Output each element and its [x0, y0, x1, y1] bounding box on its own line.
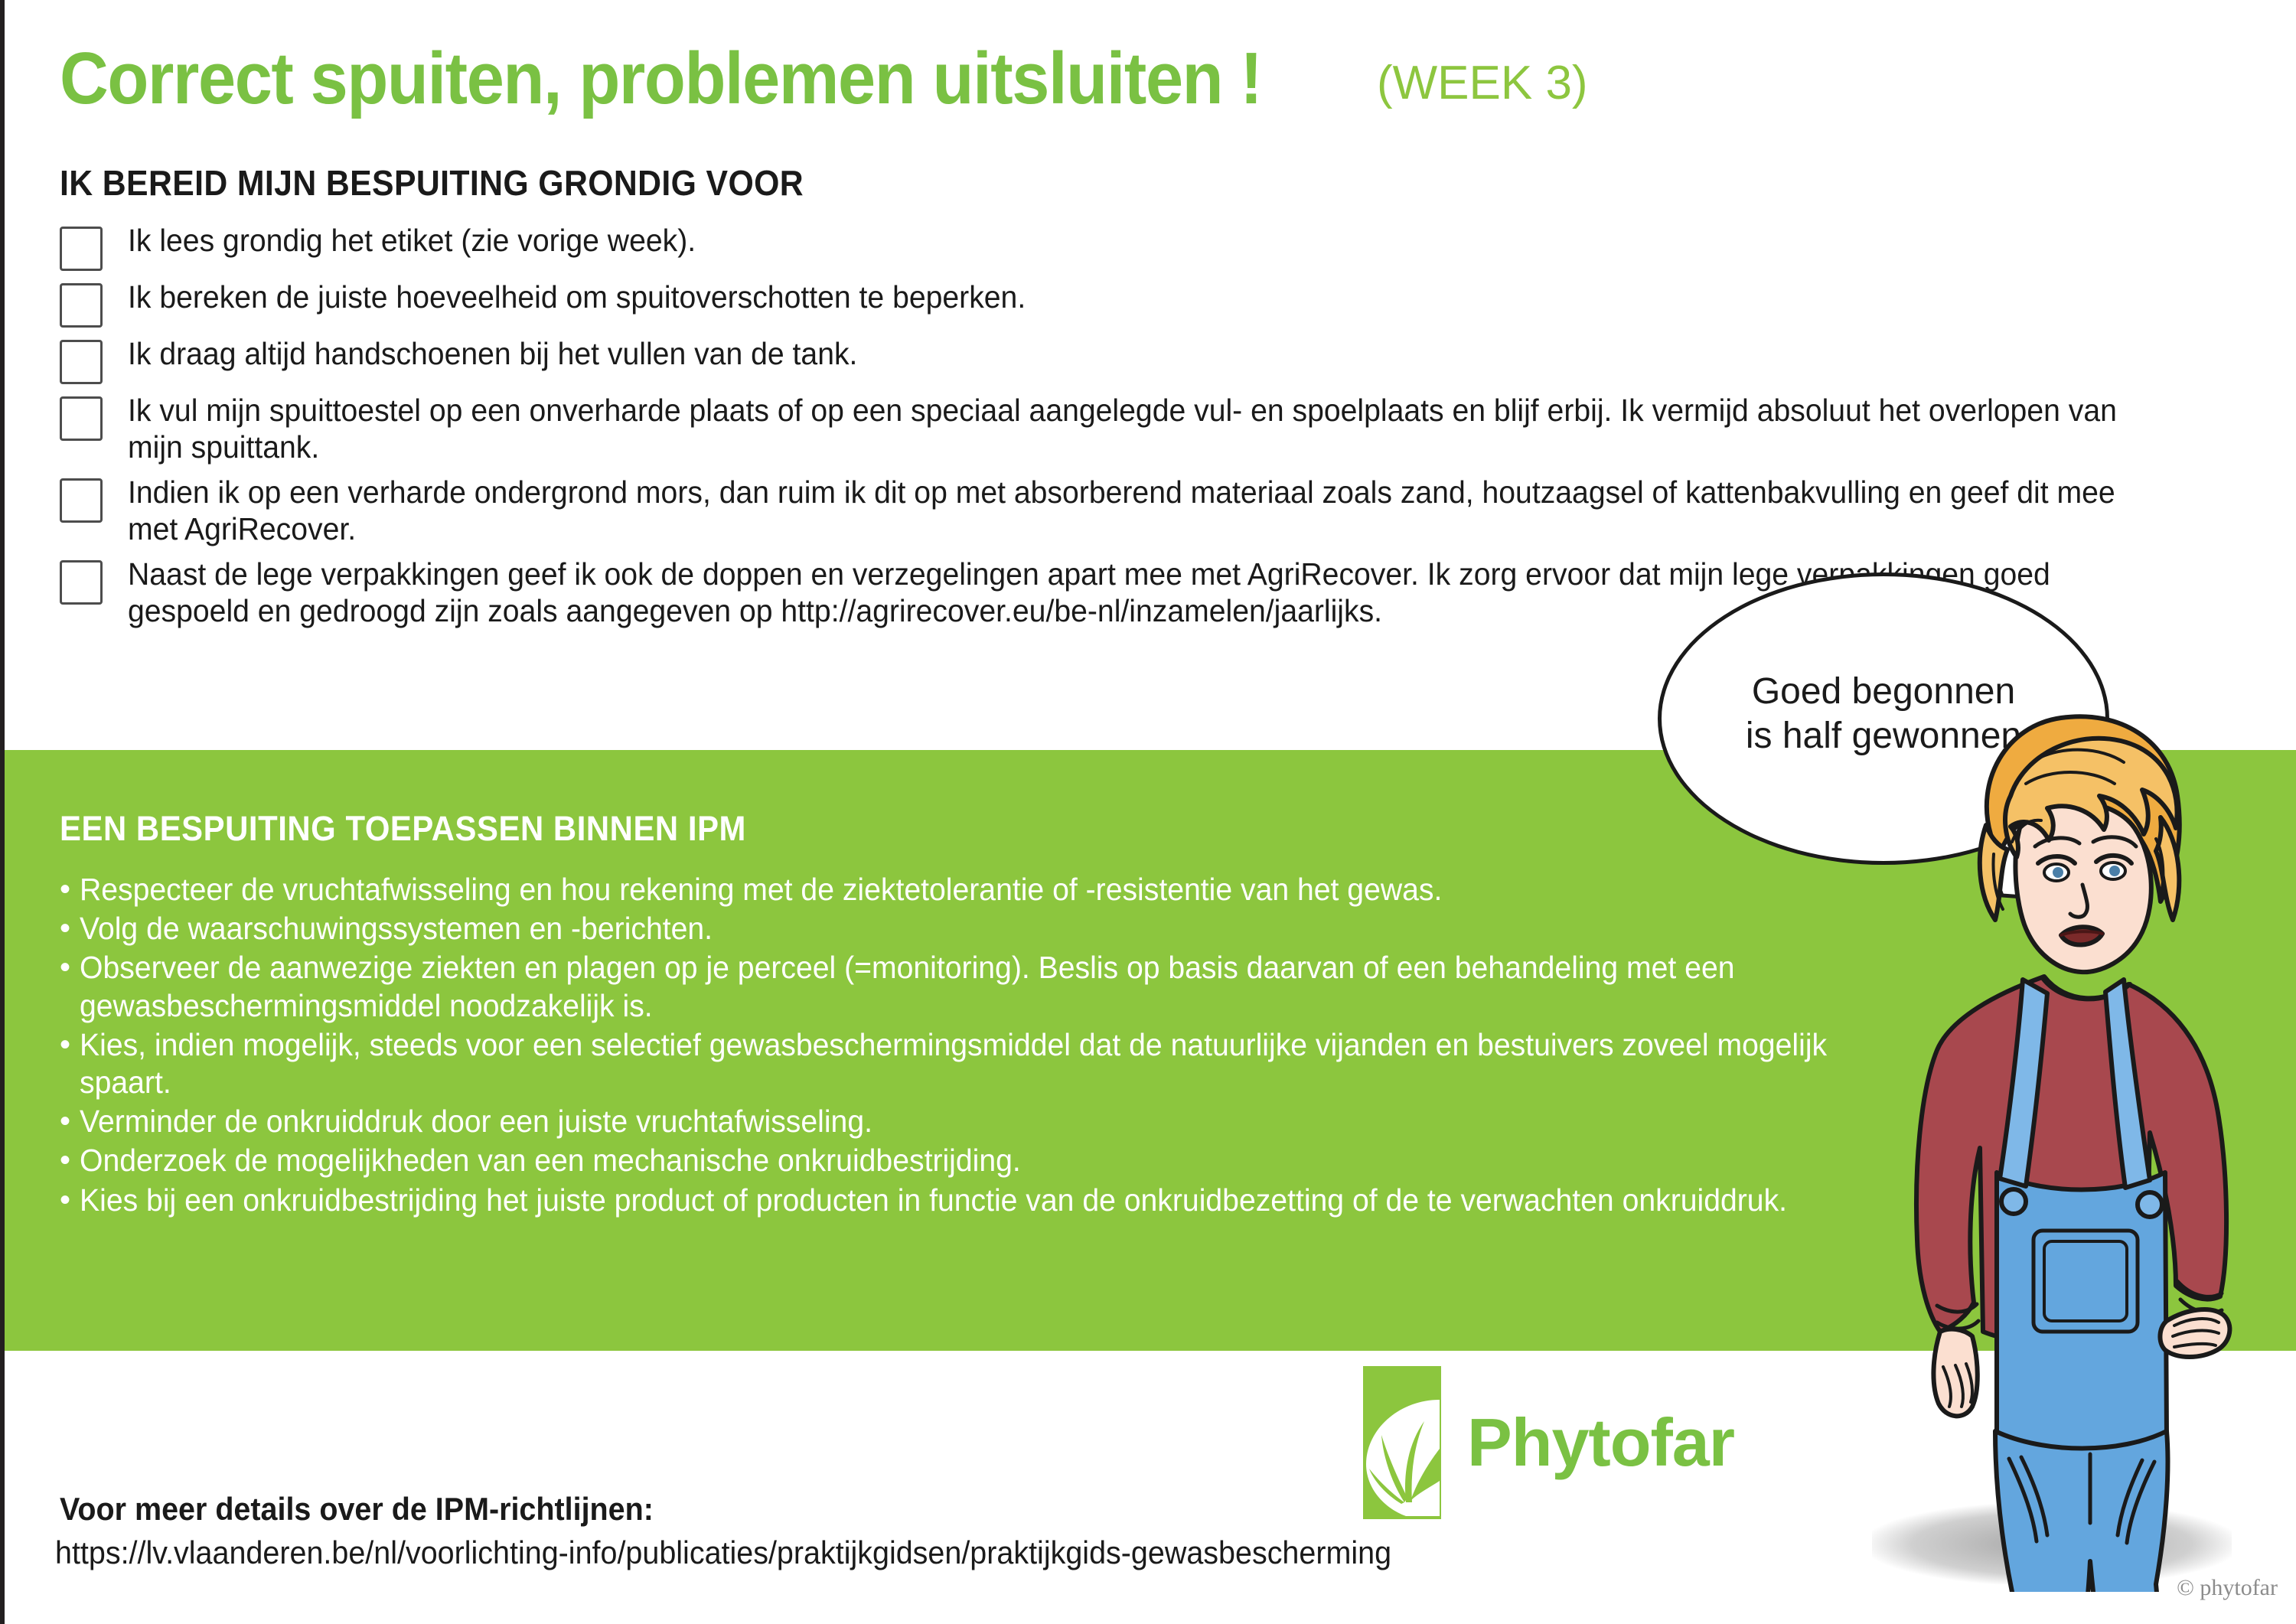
phytofar-leaf-icon	[1363, 1366, 1441, 1519]
bullet-dot-icon: •	[60, 949, 80, 986]
list-item: • Kies, indien mogelijk, steeds voor een…	[60, 1026, 1912, 1101]
checklist-item-label: Ik lees grondig het etiket (zie vorige w…	[128, 222, 2161, 259]
bullet-dot-icon: •	[60, 1103, 80, 1140]
checkbox-icon[interactable]	[60, 340, 103, 384]
bullet-dot-icon: •	[60, 910, 80, 947]
phytofar-wordmark: Phytofar	[1467, 1404, 1734, 1482]
ipm-bullet-label: Kies, indien mogelijk, steeds voor een s…	[80, 1026, 1829, 1101]
list-item[interactable]: Ik draag altijd handschoenen bij het vul…	[60, 335, 2256, 384]
page-title: Correct spuiten, problemen uitsluiten !(…	[60, 37, 1588, 121]
checkbox-icon[interactable]	[60, 560, 103, 605]
poster-root: Correct spuiten, problemen uitsluiten !(…	[0, 0, 2296, 1624]
list-item[interactable]: Ik bereken de juiste hoeveelheid om spui…	[60, 279, 2256, 328]
footer-label: Voor meer details over de IPM-richtlijne…	[60, 1491, 654, 1528]
ipm-bullet-label: Verminder de onkruiddruk door een juiste…	[80, 1103, 1829, 1140]
list-item[interactable]: Ik vul mijn spuittoestel op een onverhar…	[60, 392, 2256, 466]
list-item: • Observeer de aanwezige ziekten en plag…	[60, 949, 1912, 1024]
list-item: • Onderzoek de mogelijkheden van een mec…	[60, 1142, 1912, 1179]
checklist-item-label: Ik vul mijn spuittoestel op een onverhar…	[128, 392, 2161, 466]
ipm-bullet-label: Kies bij een onkruidbestrijding het juis…	[80, 1182, 1829, 1219]
checklist-item-label: Ik bereken de juiste hoeveelheid om spui…	[128, 279, 2161, 315]
page-title-main: Correct spuiten, problemen uitsluiten !	[60, 37, 1261, 121]
checkbox-icon[interactable]	[60, 227, 103, 271]
bullet-dot-icon: •	[60, 1142, 80, 1179]
checklist-section-heading: IK BEREID MIJN BESPUITING GRONDIG VOOR	[60, 162, 804, 204]
ipm-bullet-label: Volg de waarschuwingssystemen en -berich…	[80, 910, 1829, 947]
list-item: • Volg de waarschuwingssystemen en -beri…	[60, 910, 1912, 947]
farmer-illustration	[1861, 704, 2296, 1592]
checkbox-icon[interactable]	[60, 478, 103, 523]
ipm-bullet-label: Observeer de aanwezige ziekten en plagen…	[80, 949, 1829, 1024]
bullet-dot-icon: •	[60, 1182, 80, 1218]
copyright-watermark: © phytofar	[2177, 1575, 2278, 1601]
bullet-dot-icon: •	[60, 871, 80, 908]
list-item: • Kies bij een onkruidbestrijding het ju…	[60, 1182, 1912, 1219]
footer-url-link[interactable]: https://lv.vlaanderen.be/nl/voorlichting…	[55, 1534, 1391, 1571]
phytofar-logo: Phytofar	[1363, 1366, 1734, 1519]
ipm-section-heading: EEN BESPUITING TOEPASSEN BINNEN IPM	[60, 809, 746, 849]
checklist-item-label: Indien ik op een verharde ondergrond mor…	[128, 474, 2161, 548]
list-item[interactable]: Indien ik op een verharde ondergrond mor…	[60, 474, 2256, 548]
ipm-bullet-label: Respecteer de vruchtafwisseling en hou r…	[80, 871, 1829, 908]
ipm-bullet-list: • Respecteer de vruchtafwisseling en hou…	[60, 871, 1912, 1221]
page-title-week-badge: (WEEK 3)	[1377, 56, 1588, 110]
list-item: • Respecteer de vruchtafwisseling en hou…	[60, 871, 1912, 908]
checkbox-icon[interactable]	[60, 396, 103, 441]
list-item[interactable]: Ik lees grondig het etiket (zie vorige w…	[60, 222, 2256, 271]
ipm-bullet-label: Onderzoek de mogelijkheden van een mecha…	[80, 1142, 1829, 1179]
checklist-item-label: Ik draag altijd handschoenen bij het vul…	[128, 335, 2161, 372]
checkbox-icon[interactable]	[60, 283, 103, 328]
bullet-dot-icon: •	[60, 1026, 80, 1063]
list-item: • Verminder de onkruiddruk door een juis…	[60, 1103, 1912, 1140]
